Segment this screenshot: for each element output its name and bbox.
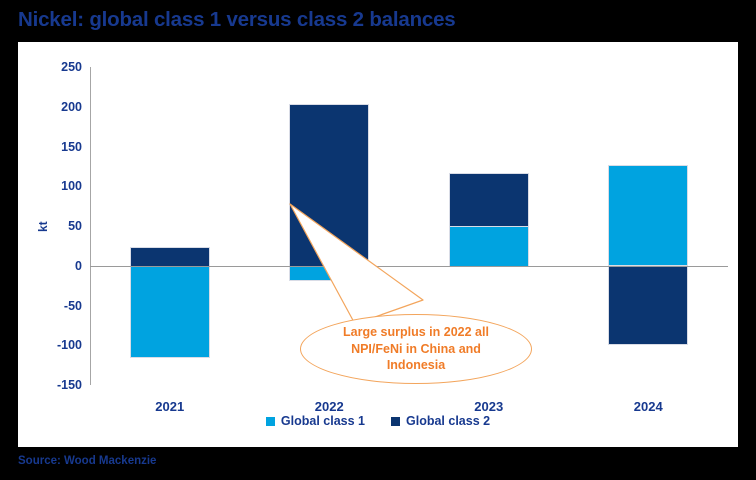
annotation-line-2: NPI/FeNi in China and xyxy=(351,342,481,356)
page-title: Nickel: global class 1 versus class 2 ba… xyxy=(18,8,456,32)
source-note: Source: Wood Mackenzie xyxy=(18,455,156,467)
annotation-line-3: Indonesia xyxy=(387,358,445,372)
callout-pointer-icon xyxy=(18,42,738,447)
chart-screenshot: Nickel: global class 1 versus class 2 ba… xyxy=(0,0,756,480)
annotation-line-1: Large surplus in 2022 all xyxy=(343,325,489,339)
annotation-text: Large surplus in 2022 all NPI/FeNi in Ch… xyxy=(343,324,489,374)
annotation-callout: Large surplus in 2022 all NPI/FeNi in Ch… xyxy=(300,314,532,384)
chart-panel: kt 250200150100500-50-100-150 2021202220… xyxy=(18,42,738,447)
